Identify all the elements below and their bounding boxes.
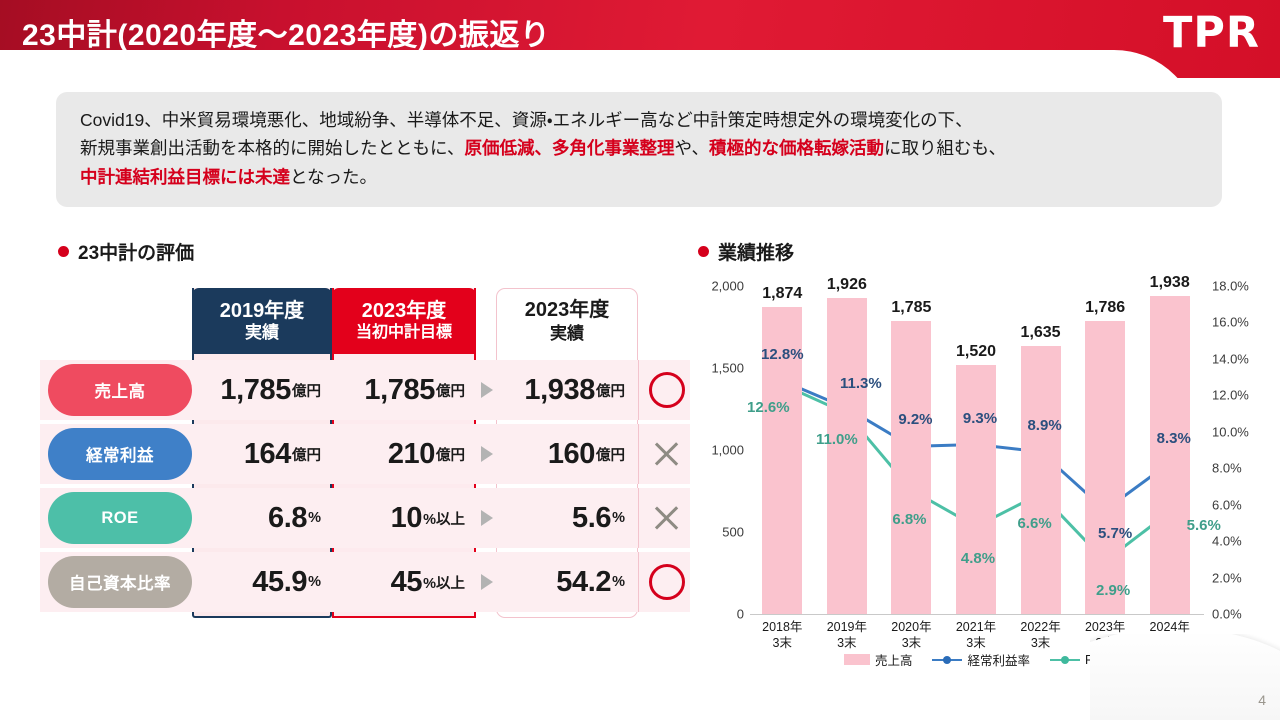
- right-section-heading: 業績推移: [698, 238, 794, 265]
- row-divider: [638, 424, 639, 484]
- cell-target: 10%以上: [332, 488, 476, 548]
- row-label-pill: ROE: [48, 492, 192, 544]
- chart-bar: [891, 321, 931, 614]
- column-header-target-line2: 当初中計目標: [356, 323, 452, 342]
- cell-target-unit: %以上: [423, 508, 465, 529]
- y-axis-left-tick: 0: [698, 607, 744, 622]
- chart-bar-label: 1,938: [1150, 274, 1190, 292]
- cell-actual-value: 160: [548, 438, 595, 471]
- cell-actual: 1,938億円: [496, 360, 638, 420]
- column-header-actual-line1: 2023年度: [525, 298, 610, 323]
- x-axis-label-line2: 3末: [762, 636, 802, 652]
- legend-item-ordinary-profit-ratio: 経常利益率: [932, 650, 1030, 669]
- cell-target-value: 210: [388, 438, 435, 471]
- y-axis-right-tick: 4.0%: [1212, 534, 1262, 549]
- summary-line2-text-b: や、: [674, 138, 708, 158]
- right-heading-label: 業績推移: [718, 243, 794, 264]
- y-axis-right-tick: 10.0%: [1212, 424, 1262, 439]
- chart-bar: [827, 298, 867, 614]
- cell-target: 210億円: [332, 424, 476, 484]
- cell-target-unit: 億円: [436, 444, 465, 465]
- cell-actual-unit: %: [612, 574, 625, 590]
- cell-fy2019-value: 164: [244, 438, 291, 471]
- y-axis-right-tick: 6.0%: [1212, 497, 1262, 512]
- chart-bar-label: 1,785: [891, 299, 931, 317]
- row-label-pill: 売上高: [48, 364, 192, 416]
- cell-actual-unit: %: [612, 510, 625, 526]
- cell-actual: 54.2%: [496, 552, 638, 612]
- table-row: 自己資本比率45.9%45%以上54.2%: [40, 552, 690, 612]
- cell-target: 1,785億円: [332, 360, 476, 420]
- chart-bar: [1021, 346, 1061, 614]
- tpr-logo: TPR: [1163, 8, 1260, 58]
- chart-bar-label: 1,635: [1021, 324, 1061, 342]
- column-header-actual: 2023年度 実績: [496, 288, 638, 354]
- summary-box: Covid19、中米貿易環境悪化、地域紛争、半導体不足、資源・エネルギー高など中…: [56, 92, 1222, 207]
- table-row: ROE6.8%10%以上5.6%: [40, 488, 690, 548]
- page-title: 23中計(2020年度～2023年度)の振返り: [22, 10, 550, 54]
- row-result-mark: [644, 360, 690, 420]
- y-axis-right-tick: 16.0%: [1212, 315, 1262, 330]
- x-axis-label-line1: 2018年: [762, 620, 802, 636]
- chart-plot-area: 1,8741,9261,7851,5201,6351,7861,93812.8%…: [750, 286, 1202, 614]
- y-axis-left-tick: 1,500: [698, 361, 744, 376]
- y-axis-left-tick: 1,000: [698, 443, 744, 458]
- cell-fy2019: 45.9%: [192, 552, 332, 612]
- x-axis-label-line1: 2021年: [956, 620, 996, 636]
- chart-point-label: 5.6%: [1187, 517, 1221, 534]
- cell-fy2019-unit: %: [308, 510, 321, 526]
- footer-swoosh-shape: [1090, 634, 1280, 720]
- row-label-pill: 自己資本比率: [48, 556, 192, 608]
- summary-line1-text: Covid19、中米貿易環境悪化、地域紛争、半導体不足、資源・エネルギー高など中…: [80, 110, 973, 130]
- x-axis-label-line1: 2020年: [891, 620, 931, 636]
- cell-target-value: 10: [391, 502, 422, 535]
- legend-label-ordinary-profit-ratio: 経常利益率: [967, 650, 1030, 669]
- table-row: 売上高1,785億円1,785億円1,938億円: [40, 360, 690, 420]
- cell-target-value: 45: [391, 566, 422, 599]
- chart-point-label: 8.3%: [1157, 430, 1191, 447]
- chart-bar: [1150, 296, 1190, 614]
- column-header-target: 2023年度 当初中計目標: [332, 288, 476, 354]
- row-result-mark: [644, 488, 690, 548]
- x-axis-line: [750, 614, 1204, 615]
- cell-fy2019-value: 1,785: [220, 374, 291, 407]
- evaluation-table: 2019年度 実績 2023年度 当初中計目標 2023年度 実績 売上高1,7…: [40, 288, 690, 618]
- header-curve-decoration: [0, 50, 1200, 78]
- x-axis-label-line2: 3末: [891, 636, 931, 652]
- x-axis-label: 2018年3末: [762, 620, 802, 651]
- cell-fy2019-value: 6.8: [268, 502, 307, 535]
- y-axis-right-tick: 14.0%: [1212, 351, 1262, 366]
- circle-mark-icon: [649, 372, 685, 408]
- left-heading-label: 23中計の評価: [78, 243, 194, 264]
- row-divider: [638, 488, 639, 548]
- chart-point-label: 6.6%: [1017, 515, 1051, 532]
- row-result-mark: [644, 424, 690, 484]
- cell-fy2019-unit: 億円: [292, 444, 321, 465]
- cell-fy2019-value: 45.9: [252, 566, 307, 599]
- x-axis-label: 2020年3末: [891, 620, 931, 651]
- cross-mark-icon: [652, 503, 682, 533]
- cell-fy2019-unit: %: [308, 574, 321, 590]
- bullet-dot-icon: [58, 246, 69, 257]
- cell-actual-unit: 億円: [596, 444, 625, 465]
- chart-point-label: 12.8%: [761, 346, 804, 363]
- summary-line-2: 新規事業創出活動を本格的に開始したとともに、原価低減、多角化事業整理や、積極的な…: [80, 134, 1202, 162]
- chart-point-label: 12.6%: [747, 399, 790, 416]
- chart-point-label: 5.7%: [1098, 525, 1132, 542]
- cross-mark-icon: [652, 439, 682, 469]
- cell-actual: 5.6%: [496, 488, 638, 548]
- slide-header: 23中計(2020年度～2023年度)の振返り TPR: [0, 0, 1280, 78]
- table-rows: 売上高1,785億円1,785億円1,938億円経常利益164億円210億円16…: [40, 360, 690, 616]
- y-axis-left-tick: 2,000: [698, 279, 744, 294]
- column-header-fy2019-line2: 実績: [245, 323, 279, 343]
- chart-bar-label: 1,926: [827, 276, 867, 294]
- cell-actual: 160億円: [496, 424, 638, 484]
- column-header-actual-line2: 実績: [550, 323, 584, 344]
- cell-actual-value: 54.2: [556, 566, 611, 599]
- y-axis-right-tick: 18.0%: [1212, 279, 1262, 294]
- chart-point-label: 6.8%: [892, 511, 926, 528]
- cell-actual-value: 5.6: [572, 502, 611, 535]
- legend-line-swatch-blue-icon: [932, 655, 962, 665]
- summary-emphasis-2: 積極的な価格転嫁活動: [709, 138, 884, 158]
- summary-emphasis-3: 中計連結利益目標には未達: [80, 167, 290, 187]
- chart-point-label: 11.3%: [840, 375, 882, 392]
- x-axis-label-line1: 2022年: [1020, 620, 1060, 636]
- row-divider: [638, 360, 639, 420]
- x-axis-label-line1: 2019年: [827, 620, 867, 636]
- row-result-mark: [644, 552, 690, 612]
- summary-emphasis-1: 原価低減、多角化事業整理: [464, 138, 674, 158]
- x-axis-label: 2019年3末: [827, 620, 867, 651]
- footer-decoration: [1090, 634, 1280, 720]
- arrow-right-icon: [478, 360, 496, 420]
- legend-item-sales: 売上高: [844, 650, 913, 669]
- x-axis-label: 2021年3末: [956, 620, 996, 651]
- row-divider: [638, 552, 639, 612]
- y-axis-right-tick: 2.0%: [1212, 570, 1262, 585]
- cell-target-value: 1,785: [364, 374, 435, 407]
- y-axis-right-tick: 0.0%: [1212, 607, 1262, 622]
- y-axis-right-tick: 8.0%: [1212, 461, 1262, 476]
- performance-chart: 05001,0001,5002,000 0.0%2.0%4.0%6.0%8.0%…: [698, 278, 1258, 670]
- chart-bar-label: 1,520: [956, 343, 996, 361]
- y-axis-right-tick: 12.0%: [1212, 388, 1262, 403]
- cell-fy2019: 6.8%: [192, 488, 332, 548]
- chart-point-label: 9.2%: [898, 411, 932, 428]
- chart-point-label: 4.8%: [961, 550, 995, 567]
- chart-point-label: 11.0%: [816, 431, 858, 448]
- cell-actual-value: 1,938: [524, 374, 595, 407]
- slide: 23中計(2020年度～2023年度)の振返り TPR Covid19、中米貿易…: [0, 0, 1280, 720]
- summary-line-3: 中計連結利益目標には未達となった。: [80, 163, 1202, 191]
- legend-line-swatch-green-icon: [1050, 655, 1080, 665]
- summary-line2-text-a: 新規事業創出活動を本格的に開始したとともに、: [80, 138, 464, 158]
- y-axis-left-tick: 500: [698, 525, 744, 540]
- cell-target-unit: 億円: [436, 380, 465, 401]
- row-label-pill: 経常利益: [48, 428, 192, 480]
- circle-mark-icon: [649, 564, 685, 600]
- table-row: 経常利益164億円210億円160億円: [40, 424, 690, 484]
- chart-bar-label: 1,786: [1085, 299, 1125, 317]
- arrow-right-icon: [478, 424, 496, 484]
- chart-bar-label: 1,874: [762, 285, 802, 303]
- summary-line3-text: となった。: [290, 167, 377, 187]
- cell-fy2019-unit: 億円: [292, 380, 321, 401]
- column-header-fy2019-line1: 2019年度: [220, 299, 305, 323]
- summary-line-1: Covid19、中米貿易環境悪化、地域紛争、半導体不足、資源・エネルギー高など中…: [80, 106, 1202, 134]
- chart-point-label: 8.9%: [1027, 417, 1061, 434]
- x-axis-label-line2: 3末: [956, 636, 996, 652]
- x-axis-label-line2: 3末: [827, 636, 867, 652]
- column-header-fy2019: 2019年度 実績: [192, 288, 332, 354]
- summary-line2-text-c: に取り組むも、: [884, 138, 1006, 158]
- cell-fy2019: 1,785億円: [192, 360, 332, 420]
- left-section-heading: 23中計の評価: [58, 238, 194, 265]
- chart-point-label: 9.3%: [963, 410, 997, 427]
- chart-bar: [956, 365, 996, 614]
- x-axis-label: 2022年3末: [1020, 620, 1060, 651]
- page-number: 4: [1258, 692, 1266, 708]
- column-header-target-line1: 2023年度: [362, 299, 447, 323]
- arrow-right-icon: [478, 488, 496, 548]
- cell-actual-unit: 億円: [596, 380, 625, 401]
- x-axis-label-line2: 3末: [1020, 636, 1060, 652]
- chart-bar: [1085, 321, 1125, 614]
- cell-target: 45%以上: [332, 552, 476, 612]
- cell-target-unit: %以上: [423, 572, 465, 593]
- arrow-right-icon: [478, 552, 496, 612]
- chart-point-label: 2.9%: [1096, 582, 1130, 599]
- legend-label-sales: 売上高: [875, 650, 913, 669]
- legend-bar-swatch-icon: [844, 654, 870, 665]
- bullet-dot-icon: [698, 246, 709, 257]
- cell-fy2019: 164億円: [192, 424, 332, 484]
